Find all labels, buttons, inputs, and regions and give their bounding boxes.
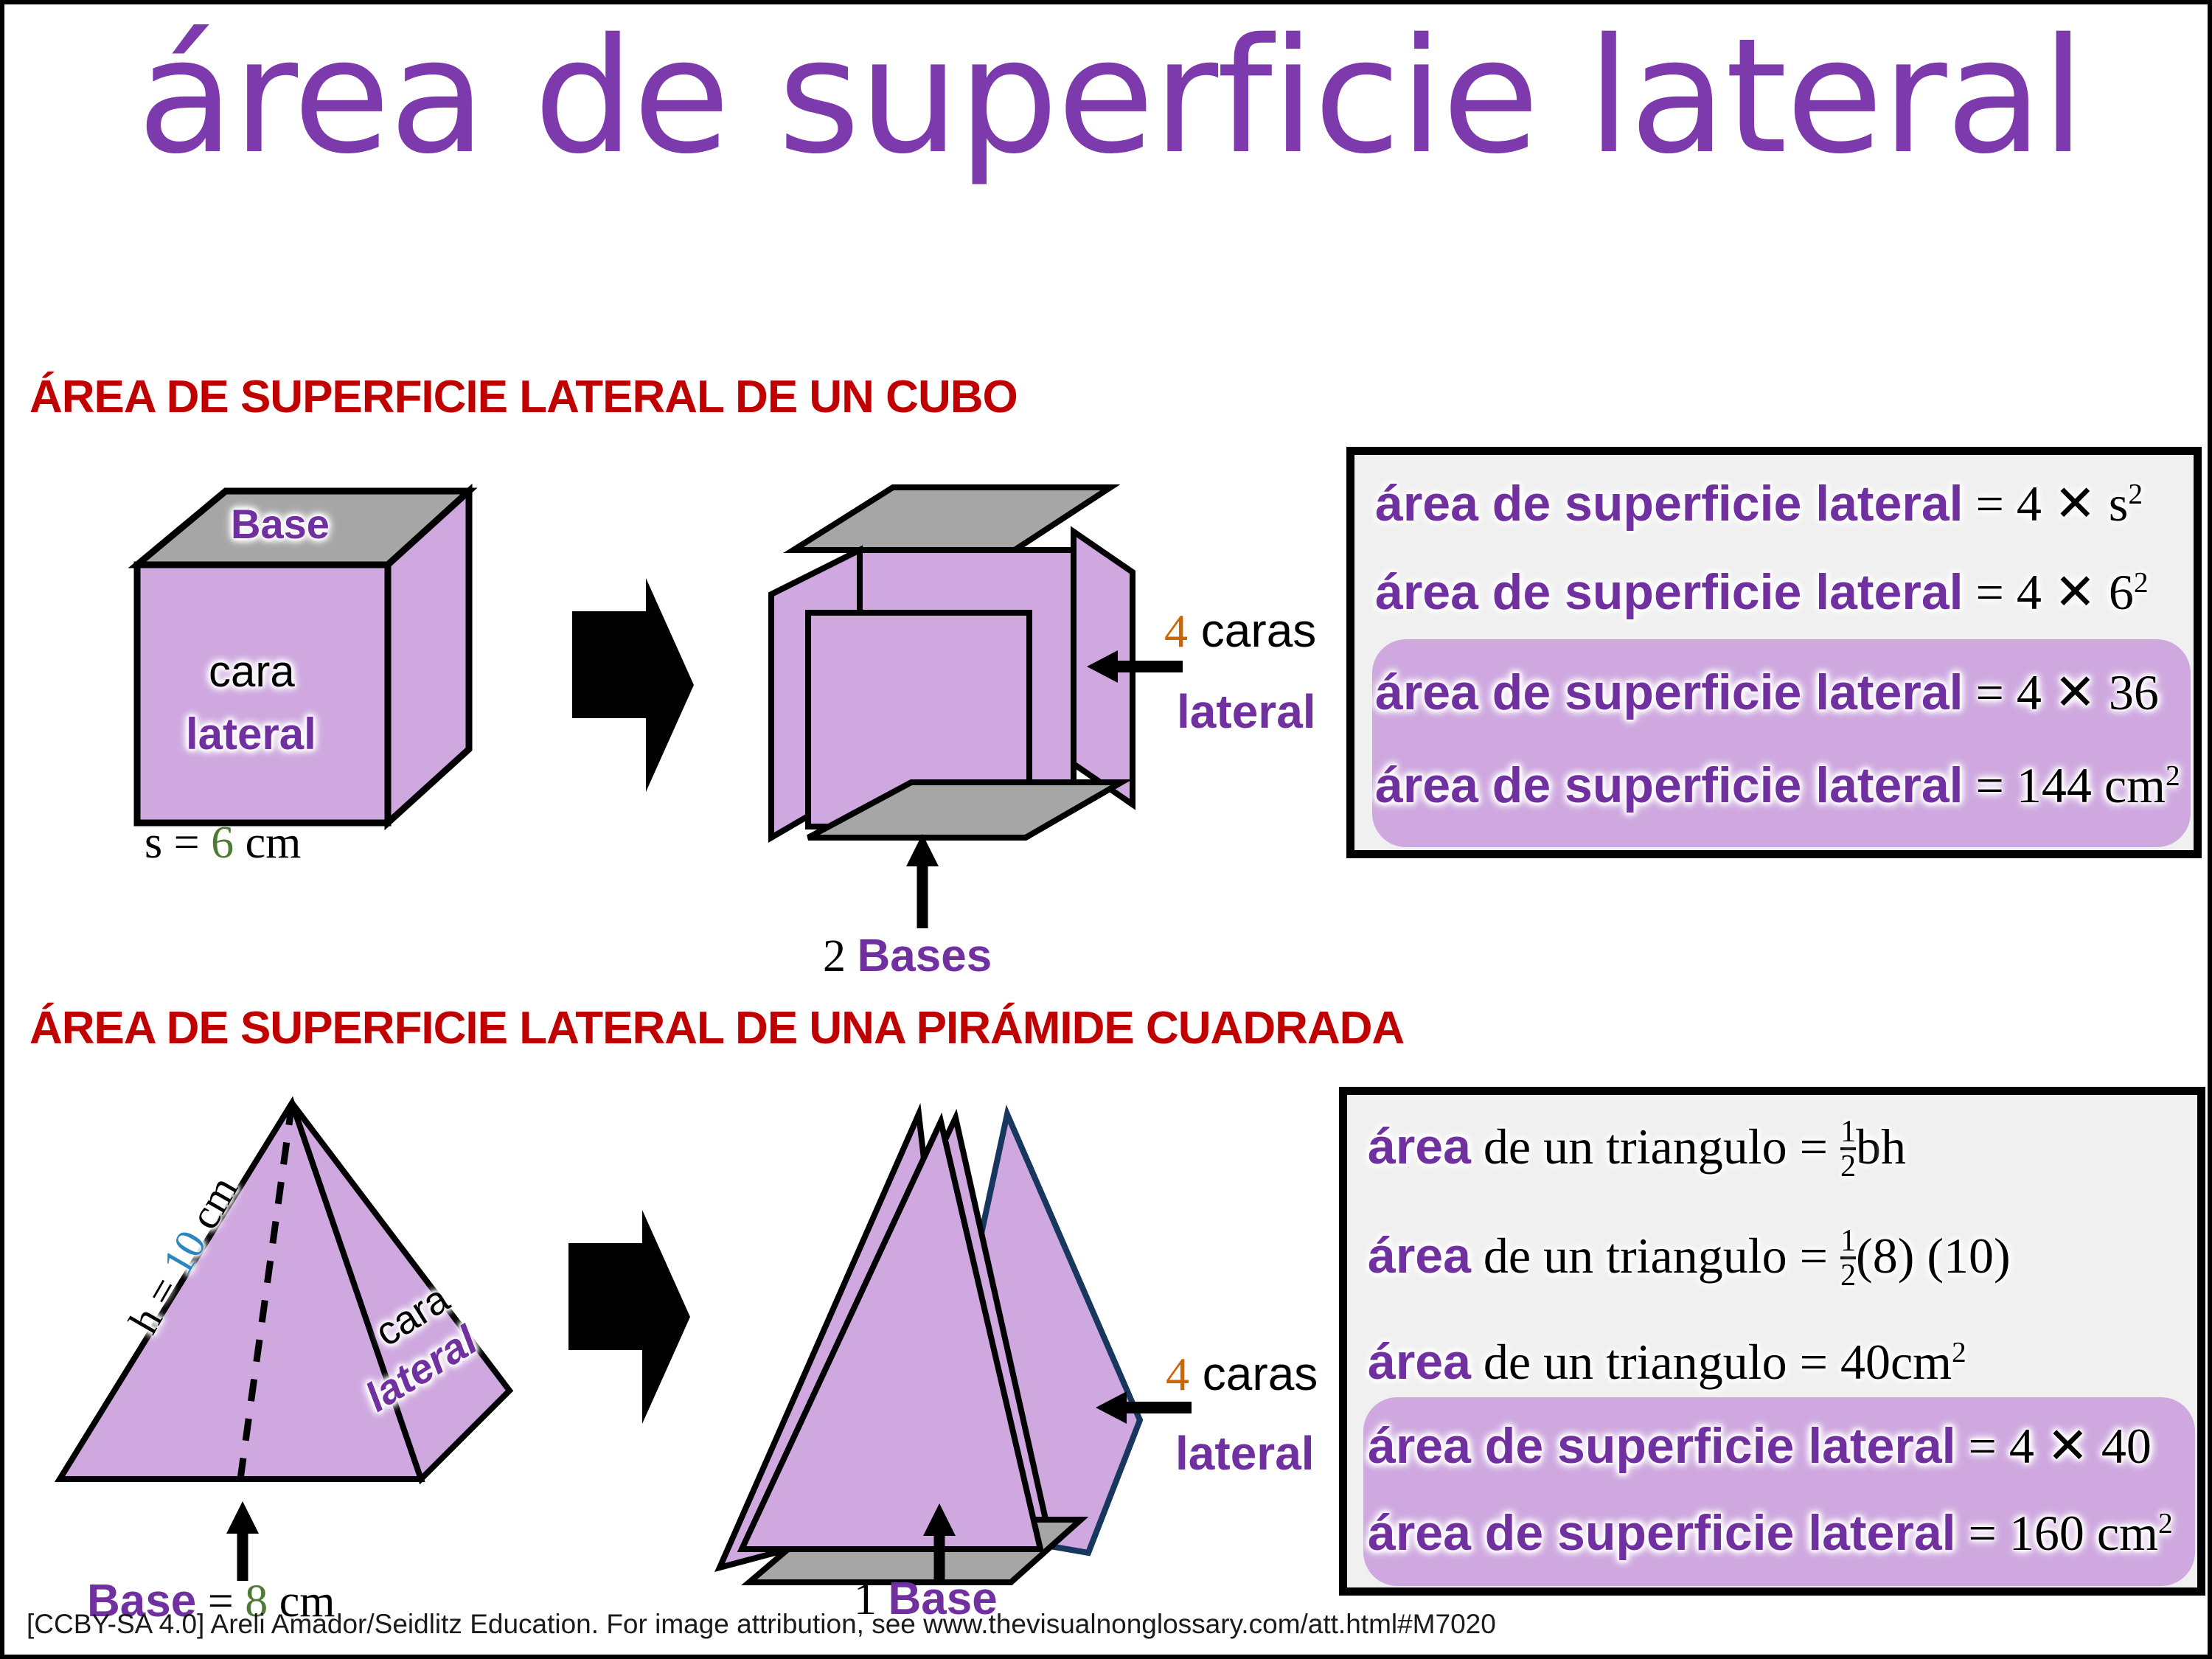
formula-eq: =: [1964, 664, 2017, 720]
cube-side-unit: cm: [234, 818, 301, 868]
formula-row: área de superficie lateral = 4 ✕ 62: [1375, 567, 2149, 617]
formula-lead-black: de un triangulo: [1471, 1119, 1787, 1175]
formula-box-cube: área de superficie lateral = 4 ✕ s2 área…: [1346, 447, 2202, 858]
attribution-footer: [CCBY-SA 4.0] Areli Amador/Seidlitz Educ…: [27, 1609, 1496, 1640]
cube-faces-word: caras: [1188, 604, 1316, 657]
cube-faces-count-label: 4 caras: [1164, 603, 1316, 658]
formula-lead: área de superficie lateral: [1368, 1505, 1956, 1561]
pyramid-exploded-diagram: [698, 1096, 1169, 1568]
formula-part: ✕: [2042, 664, 2109, 720]
formula-part: ✕: [2034, 1418, 2101, 1474]
transform-arrow-icon-cube: [550, 578, 698, 792]
cube-side-value: 6: [211, 818, 234, 868]
formula-eq: =: [1787, 1119, 1840, 1175]
cube-solid-diagram: [115, 476, 572, 860]
formula-part: [1914, 1228, 1927, 1284]
formula-lead: área de superficie lateral: [1375, 757, 1964, 813]
formula-row: área de superficie lateral = 4 ✕ 40: [1368, 1421, 2152, 1471]
fraction-numerator: 1: [1840, 1116, 1856, 1147]
cube-side-dimension: s = 6 cm: [145, 817, 301, 869]
formula-lead-black: de un triangulo: [1471, 1228, 1787, 1284]
formula-exponent: 2: [1952, 1335, 1966, 1368]
formula-exponent: 2: [2134, 566, 2149, 598]
section-heading-cube: ÁREA DE SUPERFICIE LATERAL DE UN CUBO: [29, 371, 1018, 423]
pyramid-base-arrow-icon: [226, 1501, 260, 1582]
formula-lead-black: de un triangulo: [1471, 1334, 1787, 1390]
cube-exploded-diagram: [764, 469, 1177, 926]
formula-part: 6: [2109, 564, 2134, 620]
poster-root: área de superficie lateral ÁREA DE SUPER…: [0, 0, 2212, 1659]
formula-lead: área de superficie lateral: [1375, 476, 1964, 532]
formula-row: área de un triangulo = 12bh: [1368, 1117, 1906, 1183]
formula-lead: área de superficie lateral: [1368, 1418, 1956, 1474]
formula-row: área de un triangulo = 12(8) (10): [1368, 1226, 2011, 1293]
pyramid-faces-count: 4: [1166, 1348, 1189, 1400]
cube-bases-count: 2: [823, 931, 858, 981]
pyramid-faces-lateral-label: lateral: [1175, 1426, 1315, 1481]
page-title: área de superficie lateral: [4, 13, 2212, 180]
formula-eq: =: [1964, 564, 2017, 620]
formula-eq: =: [1787, 1228, 1840, 1284]
formula-part: 160 cm: [2009, 1505, 2158, 1561]
fraction-numerator: 1: [1840, 1225, 1856, 1256]
fraction-denominator: 2: [1840, 1256, 1856, 1291]
formula-exponent: 2: [2158, 1506, 2173, 1539]
formula-lead-purple: área: [1368, 1228, 1471, 1284]
formula-exponent: 2: [2166, 759, 2180, 791]
formula-eq: =: [1964, 476, 2017, 532]
pyramid-faces-word: caras: [1189, 1347, 1318, 1400]
formula-eq: =: [1787, 1334, 1840, 1390]
formula-fraction: 12: [1840, 1225, 1856, 1291]
formula-lead: área de superficie lateral: [1375, 664, 1964, 720]
formula-row: área de un triangulo = 40cm2: [1368, 1337, 1966, 1387]
formula-eq: =: [1956, 1418, 2009, 1474]
cube-faces-count: 4: [1164, 605, 1188, 657]
formula-part: 4: [2017, 564, 2042, 620]
formula-exponent: 2: [2128, 477, 2143, 509]
cube-faces-lateral-label: lateral: [1177, 684, 1316, 739]
formula-lead: área de superficie lateral: [1375, 564, 1964, 620]
formula-part: 4: [2017, 476, 2042, 532]
formula-part: 36: [2109, 664, 2159, 720]
formula-row: área de superficie lateral = 160 cm2: [1368, 1508, 2173, 1558]
cube-bases-word: Bases: [858, 931, 992, 981]
fraction-denominator: 2: [1840, 1147, 1856, 1182]
formula-eq: =: [1956, 1505, 2009, 1561]
cube-side-prefix: s =: [145, 818, 211, 868]
formula-part: (8): [1856, 1228, 1914, 1284]
formula-part: s: [2109, 476, 2128, 532]
formula-part: 144 cm: [2017, 757, 2166, 813]
formula-box-pyramid: área de un triangulo = 12bh área de un t…: [1339, 1087, 2205, 1596]
formula-row: área de superficie lateral = 4 ✕ 36: [1375, 667, 2159, 717]
cube-base-label: Base: [231, 500, 330, 548]
formula-fraction: 12: [1840, 1116, 1856, 1182]
cube-bases-arrow-icon: [905, 834, 939, 930]
formula-part: 40cm: [1840, 1334, 1952, 1390]
cube-face-label-line2: lateral: [186, 709, 316, 759]
formula-part: ✕: [2042, 476, 2109, 532]
cube-bases-label: 2 Bases: [823, 930, 992, 983]
formula-part: ✕: [2042, 564, 2109, 620]
pyramid-faces-count-label: 4 caras: [1166, 1346, 1318, 1402]
formula-lead-purple: área: [1368, 1119, 1471, 1175]
formula-eq: =: [1964, 757, 2017, 813]
cube-face-label-line1: cara: [209, 646, 295, 697]
formula-lead-purple: área: [1368, 1334, 1471, 1390]
formula-row: área de superficie lateral = 144 cm2: [1375, 760, 2180, 810]
formula-part: 4: [2009, 1418, 2034, 1474]
section-heading-pyramid: ÁREA DE SUPERFICIE LATERAL DE UNA PIRÁMI…: [29, 1002, 1404, 1054]
formula-part: b: [1856, 1119, 1881, 1175]
transform-arrow-icon-pyramid: [546, 1210, 694, 1424]
formula-part: 40: [2101, 1418, 2152, 1474]
formula-part: (10): [1927, 1228, 2010, 1284]
formula-part: 4: [2017, 664, 2042, 720]
formula-row: área de superficie lateral = 4 ✕ s2: [1375, 479, 2143, 529]
formula-part: h: [1881, 1119, 1906, 1175]
